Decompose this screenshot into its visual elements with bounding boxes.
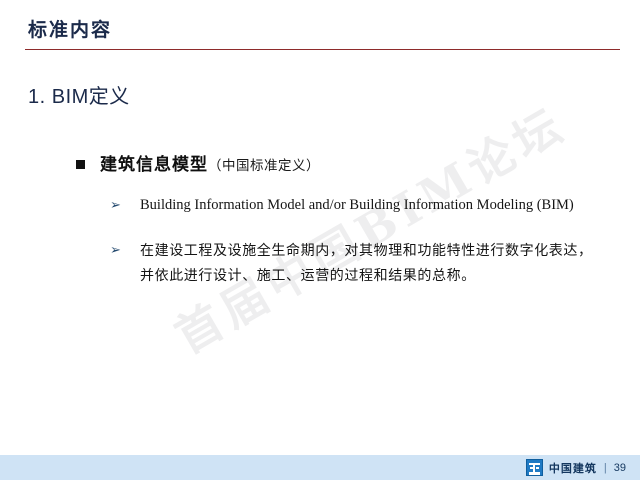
bullet-level1: 建筑信息模型（中国标准定义）	[0, 150, 640, 178]
bullet-level2-en-text: Building Information Model and/or Buildi…	[140, 194, 600, 217]
bullet-level1-main: 建筑信息模型	[100, 155, 208, 175]
footer-content: 中国建筑 | 39	[526, 458, 626, 477]
cscec-logo-icon	[526, 459, 543, 476]
title-divider	[25, 49, 620, 50]
footer-brand-label: 中国建筑	[549, 460, 597, 476]
content-body: 建筑信息模型（中国标准定义） ➢ Building Information Mo…	[0, 150, 640, 288]
page-number: 39	[614, 462, 626, 474]
page-title: 标准内容	[28, 20, 112, 42]
bullet-level2-cn-text: 在建设工程及设施全生命期内，对其物理和功能特性进行数字化表达，并依此进行设计、施…	[140, 239, 600, 287]
arrow-bullet-icon: ➢	[110, 198, 122, 211]
bullet-level2-en: ➢ Building Information Model and/or Buil…	[0, 194, 640, 217]
section-heading: 1. BIM定义	[28, 80, 130, 109]
square-bullet-icon	[76, 160, 85, 169]
bullet-level1-paren: （中国标准定义）	[208, 158, 320, 174]
footer-separator: |	[603, 462, 608, 474]
bullet-level2-cn: ➢ 在建设工程及设施全生命期内，对其物理和功能特性进行数字化表达，并依此进行设计…	[0, 239, 640, 287]
arrow-bullet-icon: ➢	[110, 243, 122, 256]
slide-canvas: 首届中国BIM论坛 标准内容 1. BIM定义 建筑信息模型（中国标准定义） ➢…	[0, 0, 640, 480]
